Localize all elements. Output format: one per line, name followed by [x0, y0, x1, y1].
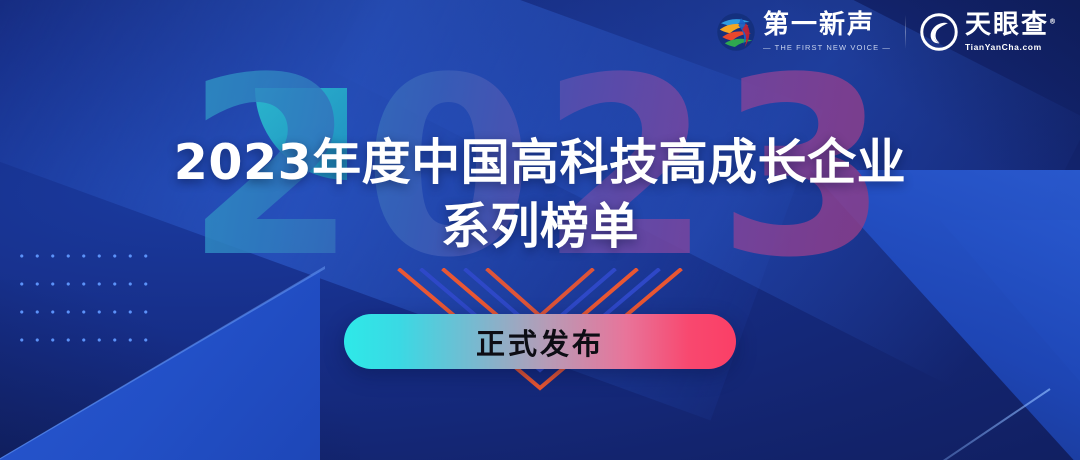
tianyancha-domain: TianYanCha.com: [965, 42, 1058, 52]
dot-grid-pattern: [8, 236, 154, 351]
release-status-label: 正式发布: [476, 321, 604, 363]
logo-tianyancha[interactable]: 天眼查® TianYanCha.com: [920, 12, 1058, 51]
background-decoration-layer: [0, 0, 1080, 460]
logo-first-new-voice[interactable]: 第一新声 — THE FIRST NEW VOICE —: [716, 12, 891, 52]
tianyancha-name-cn: 天眼查: [965, 10, 1049, 40]
first-new-voice-name: 第一新声: [763, 12, 891, 39]
swirl-ribbon-icon: [716, 12, 756, 52]
release-status-badge[interactable]: 正式发布: [344, 314, 736, 369]
aperture-eye-icon: [920, 13, 958, 51]
first-new-voice-text: 第一新声 — THE FIRST NEW VOICE —: [763, 12, 891, 51]
logo-divider: [905, 15, 906, 49]
promo-banner: 2023 2023年度中国高科技高成长企业 系列榜单 正式发布: [0, 0, 1080, 460]
tianyancha-text: 天眼查® TianYanCha.com: [965, 12, 1058, 51]
tianyancha-name: 天眼查®: [965, 12, 1058, 39]
first-new-voice-tagline: — THE FIRST NEW VOICE —: [763, 43, 891, 52]
logo-group: 第一新声 — THE FIRST NEW VOICE — 天眼查® TianYa…: [716, 12, 1058, 52]
trademark-symbol: ®: [1049, 18, 1058, 26]
